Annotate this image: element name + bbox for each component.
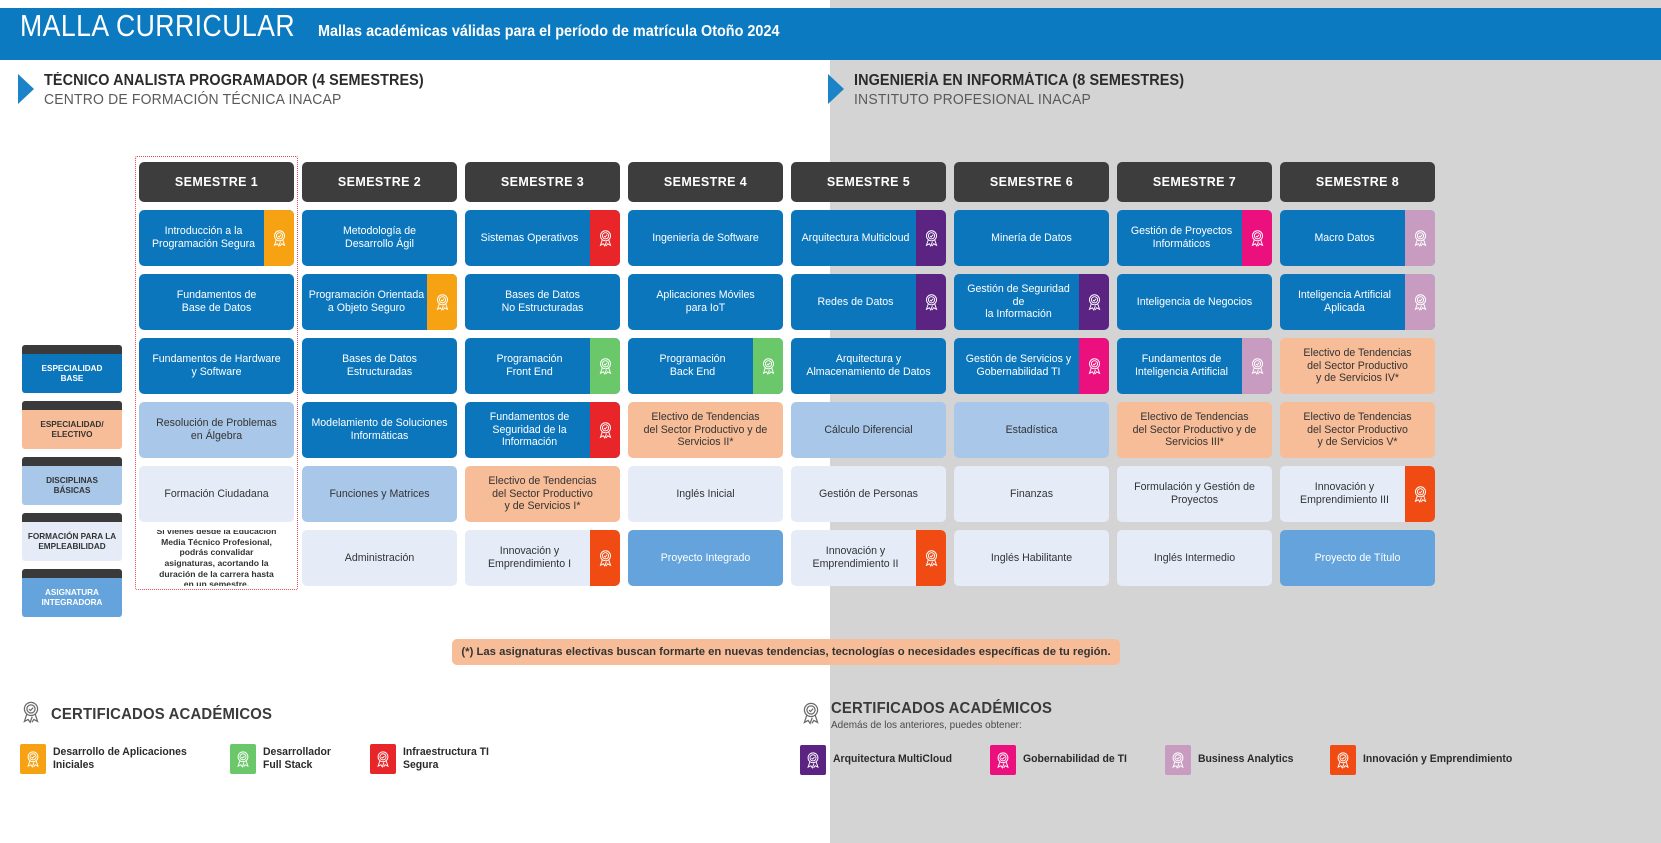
course-box[interactable]: Inteligencia de Negocios bbox=[1117, 274, 1272, 330]
course-name: Programación Orientadaa Objeto Seguro bbox=[302, 286, 457, 318]
category-legend-label: ESPECIALIDADBASE bbox=[22, 354, 122, 393]
semester-note-text: Si vienes desde la EducaciónMedia Técnic… bbox=[139, 530, 294, 586]
semester-note: Si vienes desde la EducaciónMedia Técnic… bbox=[139, 530, 294, 586]
course-name: Electivo de Tendenciasdel Sector Product… bbox=[1280, 344, 1435, 389]
course-box[interactable]: Finanzas bbox=[954, 466, 1109, 522]
program-institution-ingenieria: INSTITUTO PROFESIONAL INACAP bbox=[854, 91, 1184, 108]
course-name: Cálculo Diferencial bbox=[791, 421, 946, 440]
course-box[interactable]: Electivo de Tendenciasdel Sector Product… bbox=[1280, 402, 1435, 458]
course-box[interactable]: Fundamentos deSeguridad de laInformación bbox=[465, 402, 620, 458]
course-name: Bases de DatosNo Estructuradas bbox=[465, 286, 620, 318]
course-box[interactable]: Administración bbox=[302, 530, 457, 586]
course-box[interactable]: Gestión de ProyectosInformáticos bbox=[1117, 210, 1272, 266]
semester-grid: SEMESTRE 1Introducción a laProgramación … bbox=[139, 162, 1435, 586]
course-box[interactable]: Innovación yEmprendimiento III bbox=[1280, 466, 1435, 522]
certificates-section-ingenieria: CERTIFICADOS ACADÉMICOS Además de los an… bbox=[800, 700, 1552, 775]
certificates-title-right: CERTIFICADOS ACADÉMICOS bbox=[831, 700, 1052, 718]
category-legend-item: FORMACIÓN PARA LAEMPLEABILIDAD bbox=[22, 513, 122, 561]
certificate-legend-item: Gobernabilidad de TI bbox=[990, 745, 1132, 775]
course-box[interactable]: Programación Orientadaa Objeto Seguro bbox=[302, 274, 457, 330]
category-legend-cap bbox=[22, 457, 122, 466]
course-name: Gestión de Seguridad dela Información bbox=[954, 280, 1109, 325]
category-legend-cap bbox=[22, 401, 122, 410]
category-legend-label: ASIGNATURAINTEGRADORA bbox=[22, 578, 122, 617]
category-legend-label: DISCIPLINASBÁSICAS bbox=[22, 466, 122, 505]
category-legend-item: ASIGNATURAINTEGRADORA bbox=[22, 569, 122, 617]
program-title-tecnico: TÉCNICO ANALISTA PROGRAMADOR (4 SEMESTRE… bbox=[44, 72, 424, 90]
course-box[interactable]: ProgramaciónBack End bbox=[628, 338, 783, 394]
course-name: Electivo de Tendenciasdel Sector Product… bbox=[1117, 408, 1272, 453]
certificate-legend-label: Desarrollo de AplicacionesIniciales bbox=[53, 746, 187, 772]
semester-column: SEMESTRE 7Gestión de ProyectosInformátic… bbox=[1117, 162, 1272, 586]
certificate-ribbon-icon bbox=[20, 700, 42, 730]
course-name: Gestión de Personas bbox=[791, 485, 946, 504]
course-box[interactable]: Estadística bbox=[954, 402, 1109, 458]
category-legend-cap bbox=[22, 345, 122, 354]
certificate-legend-item: Arquitectura MultiCloud bbox=[800, 745, 958, 775]
semester-column: SEMESTRE 8Macro DatosInteligencia Artifi… bbox=[1280, 162, 1435, 586]
course-name: Electivo de Tendenciasdel Sector Product… bbox=[1280, 408, 1435, 453]
certificate-ribbon-icon bbox=[800, 701, 822, 731]
course-box[interactable]: Inglés Habilitante bbox=[954, 530, 1109, 586]
certificate-ribbon-icon bbox=[20, 744, 46, 774]
certificate-legend-item: Infraestructura TISegura bbox=[370, 744, 493, 774]
course-name: Fundamentos deBase de Datos bbox=[139, 286, 294, 318]
semester-column: SEMESTRE 5Arquitectura MulticloudRedes d… bbox=[791, 162, 946, 586]
certificate-legend-item: Desarrollo de AplicacionesIniciales bbox=[20, 744, 194, 774]
semester-header: SEMESTRE 7 bbox=[1117, 162, 1272, 202]
arrow-right-icon bbox=[828, 74, 844, 104]
certificate-legend-label: Innovación y Emprendimiento bbox=[1363, 753, 1512, 766]
elective-footnote: (*) Las asignaturas electivas buscan for… bbox=[452, 639, 1120, 665]
course-box[interactable]: Electivo de Tendenciasdel Sector Product… bbox=[1280, 338, 1435, 394]
course-box[interactable]: Metodología deDesarrollo Ágil bbox=[302, 210, 457, 266]
course-name: Electivo de Tendenciasdel Sector Product… bbox=[628, 408, 783, 453]
certificate-list-ingenieria: Arquitectura MultiCloudGobernabilidad de… bbox=[800, 745, 1552, 775]
course-name: Gestión de ProyectosInformáticos bbox=[1117, 222, 1272, 254]
course-box[interactable]: Formación Ciudadana bbox=[139, 466, 294, 522]
course-box[interactable]: Funciones y Matrices bbox=[302, 466, 457, 522]
course-box[interactable]: Gestión de Seguridad dela Información bbox=[954, 274, 1109, 330]
certificate-legend-label: Business Analytics bbox=[1198, 753, 1293, 766]
course-name: Administración bbox=[302, 549, 457, 568]
category-legend-item: ESPECIALIDAD/ELECTIVO bbox=[22, 401, 122, 449]
semester-header: SEMESTRE 6 bbox=[954, 162, 1109, 202]
semester-header: SEMESTRE 3 bbox=[465, 162, 620, 202]
course-box[interactable]: Innovación yEmprendimiento I bbox=[465, 530, 620, 586]
course-box[interactable]: Electivo de Tendenciasdel Sector Product… bbox=[1117, 402, 1272, 458]
course-box[interactable]: Ingeniería de Software bbox=[628, 210, 783, 266]
certificate-legend-item: Innovación y Emprendimiento bbox=[1330, 745, 1520, 775]
category-legend-item: DISCIPLINASBÁSICAS bbox=[22, 457, 122, 505]
course-name: Fundamentos de Hardwarey Software bbox=[139, 350, 294, 382]
course-box[interactable]: Bases de DatosEstructuradas bbox=[302, 338, 457, 394]
course-box[interactable]: Proyecto Integrado bbox=[628, 530, 783, 586]
course-name: Minería de Datos bbox=[954, 229, 1109, 248]
course-name: Sistemas Operativos bbox=[465, 229, 620, 248]
certificate-ribbon-icon bbox=[230, 744, 256, 774]
course-box[interactable]: Gestión de Personas bbox=[791, 466, 946, 522]
category-legend-item: ESPECIALIDADBASE bbox=[22, 345, 122, 393]
course-name: ProgramaciónFront End bbox=[465, 350, 620, 382]
course-name: ProgramaciónBack End bbox=[628, 350, 783, 382]
certificate-ribbon-icon bbox=[1330, 745, 1356, 775]
course-name: Inglés Habilitante bbox=[954, 549, 1109, 568]
certificates-section-tecnico: CERTIFICADOS ACADÉMICOS Desarrollo de Ap… bbox=[20, 700, 530, 774]
course-name: Modelamiento de SolucionesInformáticas bbox=[302, 414, 457, 446]
course-name: Estadística bbox=[954, 421, 1109, 440]
certificate-legend-label: Arquitectura MultiCloud bbox=[833, 753, 952, 766]
certificate-ribbon-icon bbox=[800, 745, 826, 775]
course-box[interactable]: Introducción a laProgramación Segura bbox=[139, 210, 294, 266]
course-name: Electivo de Tendenciasdel Sector Product… bbox=[465, 472, 620, 517]
course-box[interactable]: Modelamiento de SolucionesInformáticas bbox=[302, 402, 457, 458]
course-name: Funciones y Matrices bbox=[302, 485, 457, 504]
semester-column: SEMESTRE 3Sistemas OperativosBases de Da… bbox=[465, 162, 620, 586]
semester-column: SEMESTRE 4Ingeniería de SoftwareAplicaci… bbox=[628, 162, 783, 586]
course-name: Redes de Datos bbox=[791, 293, 946, 312]
semester-column: SEMESTRE 1Introducción a laProgramación … bbox=[139, 162, 294, 586]
certificate-list-tecnico: Desarrollo de AplicacionesInicialesDesar… bbox=[20, 744, 530, 774]
course-box[interactable]: Resolución de Problemasen Álgebra bbox=[139, 402, 294, 458]
certificate-legend-label: DesarrolladorFull Stack bbox=[263, 746, 331, 772]
course-name: Resolución de Problemasen Álgebra bbox=[139, 414, 294, 446]
course-box[interactable]: Cálculo Diferencial bbox=[791, 402, 946, 458]
certificate-legend-item: DesarrolladorFull Stack bbox=[230, 744, 335, 774]
semester-header: SEMESTRE 2 bbox=[302, 162, 457, 202]
course-box[interactable]: Macro Datos bbox=[1280, 210, 1435, 266]
course-box[interactable]: Fundamentos de Hardwarey Software bbox=[139, 338, 294, 394]
course-name: Aplicaciones Móvilespara IoT bbox=[628, 286, 783, 318]
course-name: Proyecto Integrado bbox=[628, 549, 783, 568]
course-name: Ingeniería de Software bbox=[628, 229, 783, 248]
certificate-legend-label: Infraestructura TISegura bbox=[403, 746, 489, 772]
category-legend: ESPECIALIDADBASEESPECIALIDAD/ELECTIVODIS… bbox=[22, 345, 122, 625]
course-name: Formación Ciudadana bbox=[139, 485, 294, 504]
course-box[interactable]: Gestión de Servicios yGobernabilidad TI bbox=[954, 338, 1109, 394]
course-box[interactable]: Formulación y Gestión deProyectos bbox=[1117, 466, 1272, 522]
course-name: Arquitectura yAlmacenamiento de Datos bbox=[791, 350, 946, 382]
course-name: Arquitectura Multicloud bbox=[791, 229, 946, 248]
course-name: Metodología deDesarrollo Ágil bbox=[302, 222, 457, 254]
course-name: Bases de DatosEstructuradas bbox=[302, 350, 457, 382]
page-header-band: MALLA CURRICULAR Mallas académicas válid… bbox=[0, 8, 1661, 60]
category-legend-cap bbox=[22, 513, 122, 522]
course-name: Fundamentos deSeguridad de laInformación bbox=[465, 408, 620, 453]
certificate-ribbon-icon bbox=[990, 745, 1016, 775]
course-box[interactable]: Sistemas Operativos bbox=[465, 210, 620, 266]
course-box[interactable]: Inteligencia ArtificialAplicada bbox=[1280, 274, 1435, 330]
course-box[interactable]: Electivo de Tendenciasdel Sector Product… bbox=[465, 466, 620, 522]
course-name: Inglés Intermedio bbox=[1117, 549, 1272, 568]
course-box[interactable]: Electivo de Tendenciasdel Sector Product… bbox=[628, 402, 783, 458]
course-name: Innovación yEmprendimiento I bbox=[465, 542, 620, 574]
semester-header: SEMESTRE 4 bbox=[628, 162, 783, 202]
page-title: MALLA CURRICULAR bbox=[20, 8, 295, 44]
program-heading-ingenieria: INGENIERÍA EN INFORMÁTICA (8 SEMESTRES) … bbox=[828, 72, 1209, 108]
program-institution-tecnico: CENTRO DE FORMACIÓN TÉCNICA INACAP bbox=[44, 91, 424, 108]
course-box[interactable]: Aplicaciones Móvilespara IoT bbox=[628, 274, 783, 330]
semester-header: SEMESTRE 8 bbox=[1280, 162, 1435, 202]
course-name: Inglés Inicial bbox=[628, 485, 783, 504]
semester-column: SEMESTRE 6Minería de DatosGestión de Seg… bbox=[954, 162, 1109, 586]
course-name: Formulación y Gestión deProyectos bbox=[1117, 478, 1272, 510]
course-box[interactable]: Redes de Datos bbox=[791, 274, 946, 330]
course-box[interactable]: Bases de DatosNo Estructuradas bbox=[465, 274, 620, 330]
category-legend-cap bbox=[22, 569, 122, 578]
course-box[interactable]: Proyecto de Título bbox=[1280, 530, 1435, 586]
course-name: Introducción a laProgramación Segura bbox=[139, 222, 294, 254]
course-name: Innovación yEmprendimiento III bbox=[1280, 478, 1435, 510]
course-box[interactable]: Innovación yEmprendimiento II bbox=[791, 530, 946, 586]
course-name: Finanzas bbox=[954, 485, 1109, 504]
course-name: Proyecto de Título bbox=[1280, 549, 1435, 568]
category-legend-label: FORMACIÓN PARA LAEMPLEABILIDAD bbox=[22, 522, 122, 561]
course-name: Gestión de Servicios yGobernabilidad TI bbox=[954, 350, 1109, 382]
semester-header: SEMESTRE 1 bbox=[139, 162, 294, 202]
semester-header: SEMESTRE 5 bbox=[791, 162, 946, 202]
program-heading-tecnico: TÉCNICO ANALISTA PROGRAMADOR (4 SEMESTRE… bbox=[18, 72, 452, 108]
certificate-legend-label: Gobernabilidad de TI bbox=[1023, 753, 1127, 766]
course-box[interactable]: Minería de Datos bbox=[954, 210, 1109, 266]
course-box[interactable]: Inglés Inicial bbox=[628, 466, 783, 522]
course-box[interactable]: Fundamentos deInteligencia Artificial bbox=[1117, 338, 1272, 394]
course-box[interactable]: Fundamentos deBase de Datos bbox=[139, 274, 294, 330]
course-box[interactable]: Arquitectura yAlmacenamiento de Datos bbox=[791, 338, 946, 394]
certificate-ribbon-icon bbox=[370, 744, 396, 774]
course-name: Innovación yEmprendimiento II bbox=[791, 542, 946, 574]
course-box[interactable]: Arquitectura Multicloud bbox=[791, 210, 946, 266]
category-legend-label: ESPECIALIDAD/ELECTIVO bbox=[22, 410, 122, 449]
program-title-ingenieria: INGENIERÍA EN INFORMÁTICA (8 SEMESTRES) bbox=[854, 72, 1184, 90]
course-name: Fundamentos deInteligencia Artificial bbox=[1117, 350, 1272, 382]
course-box[interactable]: ProgramaciónFront End bbox=[465, 338, 620, 394]
course-name: Inteligencia ArtificialAplicada bbox=[1280, 286, 1435, 318]
certificate-ribbon-icon bbox=[1165, 745, 1191, 775]
semester-column: SEMESTRE 2Metodología deDesarrollo ÁgilP… bbox=[302, 162, 457, 586]
course-name: Inteligencia de Negocios bbox=[1117, 293, 1272, 312]
course-name: Macro Datos bbox=[1280, 229, 1435, 248]
course-box[interactable]: Inglés Intermedio bbox=[1117, 530, 1272, 586]
page-subtitle: Mallas académicas válidas para el períod… bbox=[318, 23, 779, 41]
arrow-right-icon bbox=[18, 74, 34, 104]
certificates-title-left: CERTIFICADOS ACADÉMICOS bbox=[51, 706, 272, 724]
certificate-legend-item: Business Analytics bbox=[1165, 745, 1298, 775]
certificates-note-right: Además de los anteriores, puedes obtener… bbox=[831, 719, 1057, 731]
